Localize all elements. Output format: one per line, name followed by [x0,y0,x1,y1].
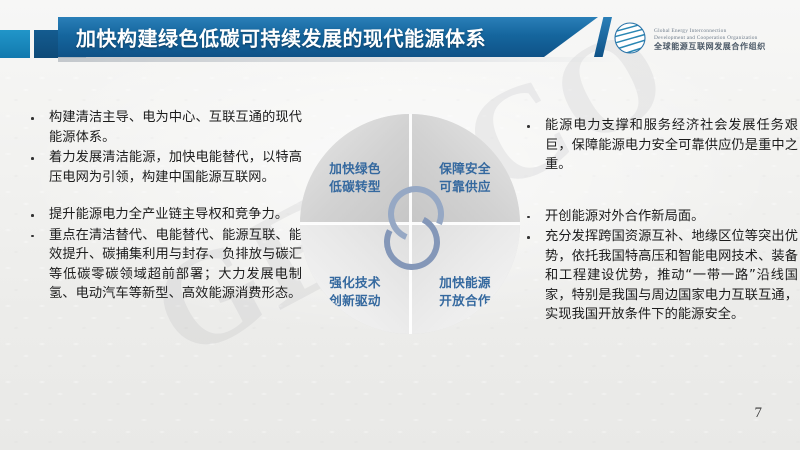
logo-line-cn: 全球能源互联网发展合作组织 [654,42,766,52]
four-quadrant-diagram: 加快绿色 低碳转型 保障安全 可靠供应 强化技术 创新驱动 加快能源 开放合作 [300,114,520,334]
header-accent-cyan [0,30,30,58]
quadrant-label: 强化技术 创新驱动 [329,274,381,310]
list-item: 构建清洁主导、电为中心、互联互通的现代能源体系。 [22,108,302,147]
slide-number: 7 [755,405,763,422]
list-item: 重点在清洁替代、电能替代、能源互联、能效提升、碳捕集利用与封存、负排放与碳汇等低… [22,226,302,304]
slide: GEIDCO 加快构建绿色低碳可持续发展的现代能源体系 [0,0,800,450]
right-bullet-group-1: 能源电力支撑和服务经济社会发展任务艰巨，保障能源电力安全可靠供应仍是重中之重。 [518,116,798,175]
quadrant-label: 加快能源 开放合作 [439,274,491,310]
title-banner: 加快构建绿色低碳可持续发展的现代能源体系 [58,17,598,57]
logo-text-block: Global Energy Interconnection Developmen… [654,28,766,53]
page-title: 加快构建绿色低碳可持续发展的现代能源体系 [76,23,486,52]
right-text-column: 能源电力支撑和服务经济社会发展任务艰巨，保障能源电力安全可靠供应仍是重中之重。 … [518,116,798,326]
quadrant-label: 保障安全 可靠供应 [439,160,491,196]
list-item: 充分发挥跨国资源互补、地缘区位等突出优势，依托我国特高压和智能电网技术、装备和工… [518,227,798,325]
diagram-disc: 加快绿色 低碳转型 保障安全 可靠供应 强化技术 创新驱动 加快能源 开放合作 [300,114,520,334]
list-item: 能源电力支撑和服务经济社会发展任务艰巨，保障能源电力安全可靠供应仍是重中之重。 [518,116,798,175]
logo-line-en-1: Global Energy Interconnection [654,28,766,35]
logo-line-en-2: Development and Cooperation Organization [654,35,766,42]
left-bullet-group-1: 构建清洁主导、电为中心、互联互通的现代能源体系。 着力发展清洁能源，加快电能替代… [22,108,302,187]
quadrant-label: 加快绿色 低碳转型 [329,160,381,196]
list-item: 着力发展清洁能源，加快电能替代，以特高压电网为引领，构建中国能源互联网。 [22,148,302,187]
header-underline [58,57,618,62]
left-bullet-group-2: 提升能源电力全产业链主导权和竞争力。 重点在清洁替代、电能替代、能源互联、能效提… [22,205,302,304]
right-bullet-group-2: 开创能源对外合作新局面。 充分发挥跨国资源互补、地缘区位等突出优势，依托我国特高… [518,207,798,325]
list-item: 开创能源对外合作新局面。 [518,207,798,227]
left-text-column: 构建清洁主导、电为中心、互联互通的现代能源体系。 着力发展清洁能源，加快电能替代… [22,108,302,305]
globe-icon [612,20,648,60]
title-slash-decoration [594,17,612,57]
organization-logo: Global Energy Interconnection Developmen… [612,20,766,60]
list-item: 提升能源电力全产业链主导权和竞争力。 [22,205,302,225]
